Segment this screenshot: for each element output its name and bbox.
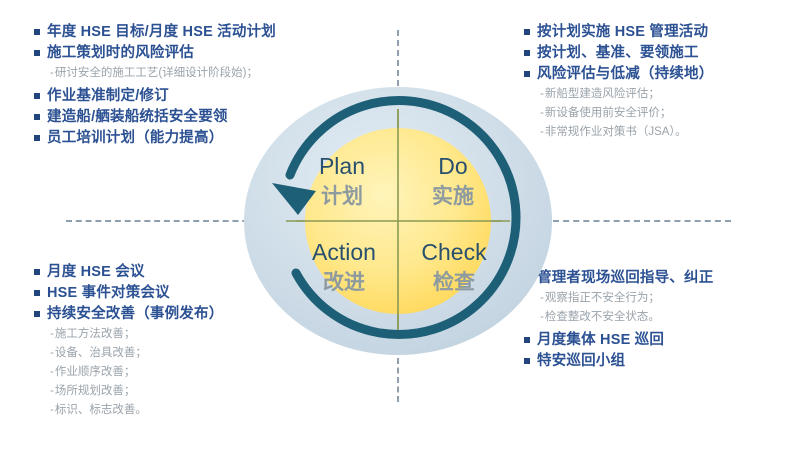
wheel-label-check-cn: 检查 [433,270,475,294]
bullet-square-icon [34,290,40,296]
bullet-square-icon [34,135,40,141]
wheel-label-check-en: Check [421,239,487,265]
list-item: 管理者现场巡回指导、纠正观察指正不安全行为；检查整改不安全状态。 [524,268,786,327]
sub-list-item: 标识、标志改善。 [50,401,334,420]
sub-list-item: 新设备使用前安全评价； [540,104,786,123]
bullet-square-icon [34,311,40,317]
bullet-square-icon [524,50,530,56]
bullet-square-icon [34,29,40,35]
wheel-label-plan-cn: 计划 [321,185,363,208]
list-item: 特安巡回小组 [524,351,786,371]
bullet-line: 按计划、基准、要领施工 [524,43,786,63]
bullet-text: 管理者现场巡回指导、纠正 [537,268,713,288]
bullet-square-icon [524,358,530,364]
divider-dashed-left [66,220,258,222]
divider-dashed-right [553,220,731,222]
bullet-line: 管理者现场巡回指导、纠正 [524,268,786,288]
bullet-text: 持续安全改善（事例发布） [47,304,223,324]
sub-list-item: 检查整改不安全状态。 [540,308,786,327]
bullet-line: 按计划实施 HSE 管理活动 [524,22,786,42]
list-item: 按计划、基准、要领施工 [524,43,786,63]
sub-list-item: 作业顺序改善； [50,363,334,382]
wheel-label-action-en: Action [312,239,376,265]
sub-list-item: 非常规作业对策书（JSA）。 [540,123,786,142]
sub-list-item: 研讨安全的施工工艺(详细设计阶段始)； [50,64,334,83]
list-item: 风险评估与低减（持续地）新船型建造风险评估；新设备使用前安全评价；非常规作业对策… [524,64,786,142]
wheel-label-do-en: Do [438,153,467,179]
sub-list-item: 新船型建造风险评估； [540,85,786,104]
sub-list-item: 观察指正不安全行为； [540,289,786,308]
bullet-text: 按计划实施 HSE 管理活动 [537,22,708,42]
bullet-line: 月度集体 HSE 巡回 [524,330,786,350]
bullet-text: 月度集体 HSE 巡回 [537,330,664,350]
bullet-text: HSE 事件对策会议 [47,283,170,303]
bullet-text: 风险评估与低减（持续地） [537,64,713,84]
bullet-text: 月度 HSE 会议 [47,262,145,282]
item-list-check: 管理者现场巡回指导、纠正观察指正不安全行为；检查整改不安全状态。月度集体 HSE… [524,268,786,371]
divider-dashed-top [397,30,399,86]
sub-item-list: 新船型建造风险评估；新设备使用前安全评价；非常规作业对策书（JSA）。 [524,85,786,142]
list-item: 按计划实施 HSE 管理活动 [524,22,786,42]
bullet-square-icon [34,93,40,99]
list-item: 施工策划时的风险评估研讨安全的施工工艺(详细设计阶段始)； [34,43,334,83]
wheel-label-plan-en: Plan [319,153,365,179]
bullet-square-icon [34,114,40,120]
bullet-text: 作业基准制定/修订 [47,86,169,106]
item-list-do: 按计划实施 HSE 管理活动按计划、基准、要领施工风险评估与低减（持续地）新船型… [524,22,786,142]
bullet-square-icon [524,29,530,35]
sub-item-list: 研讨安全的施工工艺(详细设计阶段始)； [34,64,334,83]
wheel-label-do-cn: 实施 [432,184,474,208]
text-block-check: 管理者现场巡回指导、纠正观察指正不安全行为；检查整改不安全状态。月度集体 HSE… [524,268,786,372]
bullet-square-icon [524,71,530,77]
bullet-square-icon [34,269,40,275]
bullet-line: 施工策划时的风险评估 [34,43,334,63]
list-item: 年度 HSE 目标/月度 HSE 活动计划 [34,22,334,42]
divider-dashed-bottom [397,358,399,402]
list-item: 月度集体 HSE 巡回 [524,330,786,350]
bullet-line: 特安巡回小组 [524,351,786,371]
bullet-text: 施工策划时的风险评估 [47,43,194,63]
bullet-text: 建造船/舾装船统括安全要领 [47,107,228,127]
bullet-text: 员工培训计划（能力提高） [47,128,223,148]
bullet-text: 按计划、基准、要领施工 [537,43,699,63]
pdca-cycle-diagram: Plan 计划 Do 实施 Action 改进 Check 检查 [244,87,552,357]
sub-list-item: 场所规划改善； [50,382,334,401]
wheel-label-action-cn: 改进 [323,270,365,294]
sub-item-list: 观察指正不安全行为；检查整改不安全状态。 [524,289,786,327]
bullet-line: 年度 HSE 目标/月度 HSE 活动计划 [34,22,334,42]
bullet-square-icon [34,50,40,56]
text-block-do: 按计划实施 HSE 管理活动按计划、基准、要领施工风险评估与低减（持续地）新船型… [524,22,786,145]
bullet-line: 风险评估与低减（持续地） [524,64,786,84]
bullet-text: 年度 HSE 目标/月度 HSE 活动计划 [47,22,276,42]
